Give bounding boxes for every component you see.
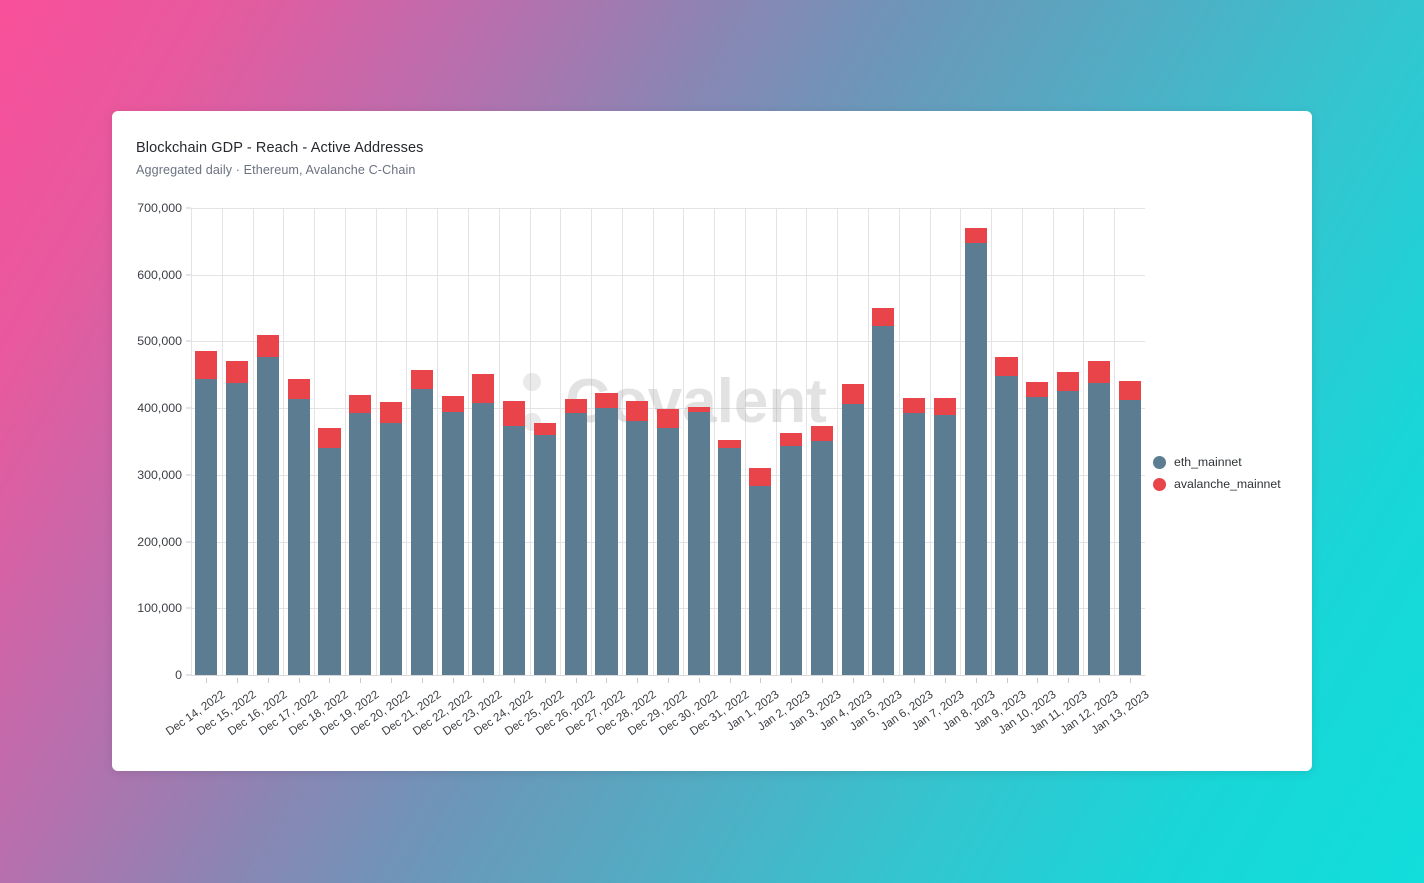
bar-segment-avalanche-mainnet[interactable] (1088, 361, 1110, 383)
bar-segment-avalanche-mainnet[interactable] (626, 401, 648, 420)
bar-segment-eth-mainnet[interactable] (749, 486, 771, 675)
bar-segment-avalanche-mainnet[interactable] (503, 401, 525, 426)
bar-segment-eth-mainnet[interactable] (1119, 400, 1141, 675)
x-axis-tick (822, 678, 823, 683)
bar-segment-avalanche-mainnet[interactable] (749, 468, 771, 486)
bar-segment-avalanche-mainnet[interactable] (442, 396, 464, 412)
bar-group[interactable] (780, 208, 802, 675)
bar-segment-avalanche-mainnet[interactable] (965, 228, 987, 243)
x-axis-labels: Dec 14, 2022Dec 15, 2022Dec 16, 2022Dec … (191, 678, 1145, 770)
bar-group[interactable] (503, 208, 525, 675)
x-axis-tick (668, 678, 669, 683)
y-axis-label: 600,000 (137, 268, 182, 282)
bar-segment-avalanche-mainnet[interactable] (534, 423, 556, 435)
bar-segment-eth-mainnet[interactable] (318, 448, 340, 675)
bar-group[interactable] (811, 208, 833, 675)
bar-group[interactable] (965, 208, 987, 675)
bar-group[interactable] (472, 208, 494, 675)
bar-segment-eth-mainnet[interactable] (565, 413, 587, 675)
bar-segment-avalanche-mainnet[interactable] (411, 370, 433, 389)
bar-group[interactable] (934, 208, 956, 675)
bar-segment-eth-mainnet[interactable] (842, 404, 864, 675)
bar-segment-eth-mainnet[interactable] (595, 408, 617, 675)
chart-card: Blockchain GDP - Reach - Active Addresse… (112, 111, 1312, 771)
x-axis-tick (883, 678, 884, 683)
bar-group[interactable] (442, 208, 464, 675)
bar-segment-eth-mainnet[interactable] (349, 413, 371, 675)
x-axis-tick (453, 678, 454, 683)
bar-segment-eth-mainnet[interactable] (965, 243, 987, 675)
bar-segment-eth-mainnet[interactable] (903, 413, 925, 675)
x-axis-tick (791, 678, 792, 683)
bar-group[interactable] (1119, 208, 1141, 675)
bar-segment-avalanche-mainnet[interactable] (934, 398, 956, 415)
x-axis-tick (760, 678, 761, 683)
bar-segment-avalanche-mainnet[interactable] (349, 395, 371, 414)
bar-group[interactable] (565, 208, 587, 675)
bar-group[interactable] (195, 208, 217, 675)
bar-segment-eth-mainnet[interactable] (718, 448, 740, 675)
bar-segment-avalanche-mainnet[interactable] (842, 384, 864, 404)
y-axis-label: 400,000 (137, 401, 182, 415)
bar-segment-avalanche-mainnet[interactable] (1026, 382, 1048, 397)
x-axis-tick (1037, 678, 1038, 683)
y-axis-label: 200,000 (137, 535, 182, 549)
bar-group[interactable] (749, 208, 771, 675)
bar-group[interactable] (288, 208, 310, 675)
x-axis-tick (299, 678, 300, 683)
x-axis-tick (514, 678, 515, 683)
bar-segment-avalanche-mainnet[interactable] (195, 351, 217, 380)
x-axis-tick (1007, 678, 1008, 683)
bar-segment-eth-mainnet[interactable] (934, 415, 956, 675)
y-axis-label: 700,000 (137, 201, 182, 215)
x-axis-tick (730, 678, 731, 683)
x-axis-tick (914, 678, 915, 683)
x-axis-tick (1099, 678, 1100, 683)
x-axis-tick (1130, 678, 1131, 683)
bar-segment-avalanche-mainnet[interactable] (472, 374, 494, 403)
bars-layer (191, 208, 1145, 675)
bar-segment-eth-mainnet[interactable] (442, 412, 464, 675)
bar-segment-avalanche-mainnet[interactable] (318, 428, 340, 448)
bar-group[interactable] (318, 208, 340, 675)
bar-segment-avalanche-mainnet[interactable] (1119, 381, 1141, 400)
bar-group[interactable] (657, 208, 679, 675)
bar-group[interactable] (1088, 208, 1110, 675)
bar-segment-avalanche-mainnet[interactable] (718, 440, 740, 448)
bar-group[interactable] (1057, 208, 1079, 675)
bar-group[interactable] (872, 208, 894, 675)
bar-segment-eth-mainnet[interactable] (534, 435, 556, 675)
x-axis-tick (483, 678, 484, 683)
bar-segment-eth-mainnet[interactable] (380, 423, 402, 675)
bar-segment-eth-mainnet[interactable] (626, 421, 648, 675)
bar-segment-avalanche-mainnet[interactable] (595, 393, 617, 408)
x-axis-tick (637, 678, 638, 683)
bar-segment-eth-mainnet[interactable] (1088, 383, 1110, 675)
bar-segment-eth-mainnet[interactable] (688, 412, 710, 675)
chart-subtitle: Aggregated daily · Ethereum, Avalanche C… (136, 163, 416, 177)
legend-item-eth-mainnet[interactable]: eth_mainnet (1153, 451, 1281, 473)
legend-swatch-icon (1153, 478, 1166, 491)
bar-group[interactable] (842, 208, 864, 675)
bar-group[interactable] (595, 208, 617, 675)
bar-group[interactable] (411, 208, 433, 675)
bar-segment-eth-mainnet[interactable] (288, 399, 310, 675)
bar-segment-avalanche-mainnet[interactable] (872, 308, 894, 326)
bar-segment-avalanche-mainnet[interactable] (995, 357, 1017, 376)
bar-segment-avalanche-mainnet[interactable] (657, 409, 679, 428)
x-axis-tick (606, 678, 607, 683)
y-axis-label: 0 (175, 668, 182, 682)
bar-group[interactable] (718, 208, 740, 675)
page-title: Blockchain GDP - Reach - Active Addresse… (136, 140, 424, 156)
bar-segment-avalanche-mainnet[interactable] (688, 407, 710, 412)
legend-swatch-icon (1153, 456, 1166, 469)
y-axis-label: 500,000 (137, 334, 182, 348)
bar-group[interactable] (257, 208, 279, 675)
bar-group[interactable] (626, 208, 648, 675)
bar-group[interactable] (1026, 208, 1048, 675)
y-axis-label: 100,000 (137, 601, 182, 615)
bar-group[interactable] (380, 208, 402, 675)
bar-segment-avalanche-mainnet[interactable] (811, 426, 833, 441)
x-axis-line (191, 675, 1145, 676)
bar-segment-eth-mainnet[interactable] (1026, 397, 1048, 675)
x-axis-tick (945, 678, 946, 683)
x-axis-tick (329, 678, 330, 683)
bar-segment-avalanche-mainnet[interactable] (380, 402, 402, 423)
x-axis-tick (545, 678, 546, 683)
page-background: Blockchain GDP - Reach - Active Addresse… (0, 0, 1424, 883)
chart-legend: eth_mainnetavalanche_mainnet (1153, 451, 1281, 495)
x-axis-tick (576, 678, 577, 683)
legend-item-label: avalanche_mainnet (1174, 477, 1281, 491)
bar-segment-avalanche-mainnet[interactable] (226, 361, 248, 383)
bar-segment-eth-mainnet[interactable] (503, 426, 525, 675)
bar-segment-eth-mainnet[interactable] (811, 441, 833, 675)
x-axis-tick (206, 678, 207, 683)
bar-group[interactable] (995, 208, 1017, 675)
bar-segment-avalanche-mainnet[interactable] (903, 398, 925, 413)
bar-segment-avalanche-mainnet[interactable] (565, 399, 587, 414)
bar-segment-eth-mainnet[interactable] (872, 326, 894, 675)
bar-group[interactable] (688, 208, 710, 675)
plot-area: Covalent 0100,000200,000300,000400,00050… (191, 208, 1145, 675)
bar-segment-eth-mainnet[interactable] (780, 446, 802, 675)
bar-segment-eth-mainnet[interactable] (226, 383, 248, 675)
x-axis-tick (976, 678, 977, 683)
bar-segment-avalanche-mainnet[interactable] (288, 379, 310, 400)
bar-group[interactable] (903, 208, 925, 675)
x-axis-tick (237, 678, 238, 683)
bar-group[interactable] (534, 208, 556, 675)
y-axis-label: 300,000 (137, 468, 182, 482)
x-axis-tick (422, 678, 423, 683)
x-axis-tick (268, 678, 269, 683)
bar-segment-eth-mainnet[interactable] (995, 376, 1017, 675)
bar-segment-eth-mainnet[interactable] (411, 389, 433, 675)
x-axis-tick (853, 678, 854, 683)
bar-group[interactable] (349, 208, 371, 675)
bar-segment-eth-mainnet[interactable] (657, 428, 679, 675)
bar-segment-eth-mainnet[interactable] (195, 379, 217, 675)
x-axis-tick (391, 678, 392, 683)
bar-segment-avalanche-mainnet[interactable] (257, 335, 279, 356)
legend-item-avalanche-mainnet[interactable]: avalanche_mainnet (1153, 473, 1281, 495)
bar-segment-eth-mainnet[interactable] (472, 403, 494, 675)
legend-item-label: eth_mainnet (1174, 455, 1242, 469)
bar-segment-eth-mainnet[interactable] (257, 357, 279, 675)
bar-group[interactable] (226, 208, 248, 675)
bar-segment-eth-mainnet[interactable] (1057, 391, 1079, 675)
x-axis-tick (1068, 678, 1069, 683)
bar-segment-avalanche-mainnet[interactable] (780, 433, 802, 446)
x-axis-tick (360, 678, 361, 683)
bar-segment-avalanche-mainnet[interactable] (1057, 372, 1079, 391)
x-axis-tick (699, 678, 700, 683)
